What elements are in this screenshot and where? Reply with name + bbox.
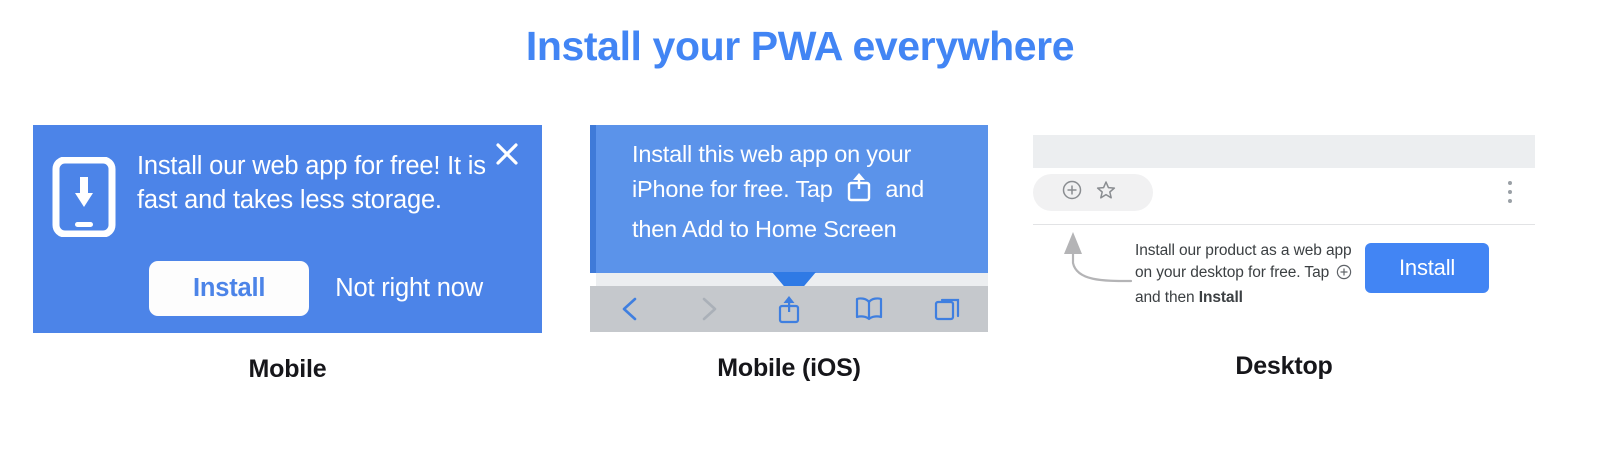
forward-chevron-icon <box>670 286 750 332</box>
more-vertical-icon[interactable] <box>1507 180 1513 209</box>
card-caption-mobile: Mobile <box>33 355 542 384</box>
tabs-icon[interactable] <box>908 286 988 332</box>
browser-omnibar <box>1033 168 1535 220</box>
close-icon[interactable] <box>492 139 522 169</box>
browser-tab-strip <box>1033 135 1535 168</box>
cards-row: Install our web app for free! It is fast… <box>0 125 1600 395</box>
desktop-promo-part2: and then <box>1135 289 1195 306</box>
ios-tooltip-message: Install this web app on your iPhone for … <box>632 137 970 247</box>
phone-download-icon <box>51 157 117 237</box>
back-chevron-icon[interactable] <box>590 286 670 332</box>
desktop-promo-part1: Install our product as a web app on your… <box>1135 242 1352 281</box>
desktop-promo-message: Install our product as a web app on your… <box>1135 240 1365 309</box>
not-right-now-link[interactable]: Not right now <box>335 274 483 303</box>
share-icon[interactable] <box>749 286 829 332</box>
install-button[interactable]: Install <box>1365 243 1489 293</box>
bookmarks-book-icon[interactable] <box>829 286 909 332</box>
share-icon <box>846 172 872 212</box>
desktop-promo-emphasis: Install <box>1199 289 1243 306</box>
bookmark-star-icon[interactable] <box>1095 179 1117 206</box>
curved-up-arrow-icon <box>1043 227 1133 302</box>
omnibox-actions-pill <box>1033 174 1153 211</box>
mobile-banner-message: Install our web app for free! It is fast… <box>137 149 507 217</box>
card-desktop: Install our product as a web app on your… <box>1033 125 1535 381</box>
install-button[interactable]: Install <box>149 261 309 316</box>
ios-install-tooltip: Install this web app on your iPhone for … <box>590 125 988 273</box>
mobile-banner-actions: Install Not right now <box>149 261 483 316</box>
card-mobile-ios: Install this web app on your iPhone for … <box>590 125 988 383</box>
ios-safari-frame: Install this web app on your iPhone for … <box>590 125 988 332</box>
card-mobile: Install our web app for free! It is fast… <box>33 125 542 384</box>
desktop-browser-frame: Install our product as a web app on your… <box>1033 125 1535 330</box>
page-title: Install your PWA everywhere <box>0 26 1600 67</box>
install-plus-circle-icon[interactable] <box>1061 179 1083 206</box>
card-caption-desktop: Desktop <box>1033 352 1535 381</box>
ios-safari-toolbar <box>590 286 988 332</box>
install-plus-circle-icon <box>1336 264 1352 287</box>
card-caption-ios: Mobile (iOS) <box>590 354 988 383</box>
desktop-install-promo: Install our product as a web app on your… <box>1033 225 1535 330</box>
mobile-install-banner: Install our web app for free! It is fast… <box>33 125 542 333</box>
